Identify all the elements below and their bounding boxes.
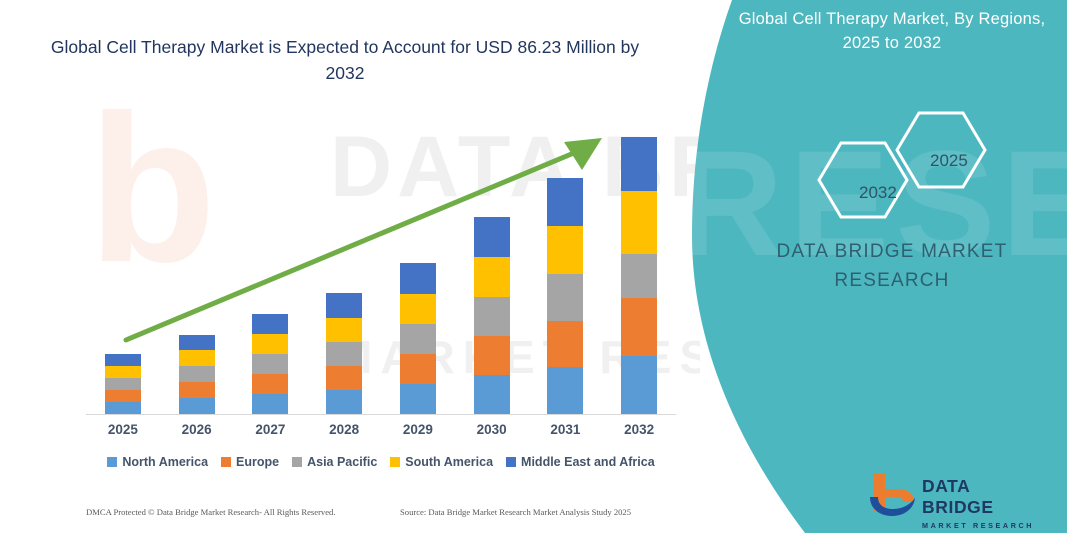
x-axis-labels: 20252026202720282029203020312032 [86, 422, 676, 437]
bar-segment [474, 297, 510, 336]
bar-segment [179, 350, 215, 366]
panel-brand-line-2: RESEARCH [727, 267, 1057, 296]
right-side-panel: RESEARCH Global Cell Therapy Market, By … [687, 0, 1067, 533]
bar-column [160, 120, 234, 414]
bar-segment [474, 217, 510, 257]
panel-brand-text: DATA BRIDGE MARKET RESEARCH [727, 238, 1057, 295]
legend-label: Asia Pacific [307, 455, 377, 469]
legend-swatch-icon [292, 457, 302, 467]
x-axis-tick-label: 2031 [529, 422, 603, 437]
bar-segment [179, 382, 215, 398]
bar-segment [474, 375, 510, 414]
stacked-bar [474, 217, 510, 414]
stacked-bar [547, 178, 583, 414]
legend-item[interactable]: Asia Pacific [292, 455, 377, 469]
hexagon-group: 2025 2032 [767, 105, 1047, 225]
stacked-bar [179, 335, 215, 414]
stacked-bar [105, 354, 141, 414]
bar-segment [252, 374, 288, 394]
bar-column [602, 120, 676, 414]
footer-copyright: DMCA Protected © Data Bridge Market Rese… [86, 507, 336, 517]
bar-segment [547, 321, 583, 367]
chart-title: Global Cell Therapy Market is Expected t… [40, 34, 650, 87]
footer: DMCA Protected © Data Bridge Market Rese… [0, 507, 700, 527]
legend-label: Middle East and Africa [521, 455, 655, 469]
legend-item[interactable]: North America [107, 455, 208, 469]
bar-segment [252, 314, 288, 334]
panel-title: Global Cell Therapy Market, By Regions, … [727, 8, 1057, 56]
bar-segment [105, 390, 141, 402]
x-axis-tick-label: 2027 [234, 422, 308, 437]
legend-swatch-icon [390, 457, 400, 467]
databridge-mark-icon [866, 472, 920, 518]
company-logo: DATA BRIDGE MARKET RESEARCH [866, 472, 1046, 520]
chart-legend: North AmericaEuropeAsia PacificSouth Ame… [86, 455, 676, 469]
bar-column [307, 120, 381, 414]
bar-segment [621, 137, 657, 191]
chart-plot-area [86, 120, 676, 415]
logo-name: DATA BRIDGE [922, 476, 1046, 518]
logo-text-block: DATA BRIDGE MARKET RESEARCH [922, 476, 1046, 530]
stacked-bar [621, 137, 657, 414]
bar-segment [547, 367, 583, 414]
hexagon-label-2025: 2025 [930, 151, 968, 171]
legend-label: Europe [236, 455, 279, 469]
bar-segment [400, 324, 436, 354]
bar-segment [179, 398, 215, 414]
bar-segment [474, 336, 510, 375]
hexagon-label-2032: 2032 [859, 183, 897, 203]
bar-segment [179, 335, 215, 350]
legend-swatch-icon [221, 457, 231, 467]
bar-segment [105, 402, 141, 414]
legend-swatch-icon [506, 457, 516, 467]
bar-segment [105, 378, 141, 390]
bar-segment [326, 293, 362, 318]
legend-label: South America [405, 455, 493, 469]
infographic-root: b DATA BRIDGE MARKET RESEARCH Global Cel… [0, 0, 1067, 533]
bar-column [529, 120, 603, 414]
legend-label: North America [122, 455, 208, 469]
bar-column [86, 120, 160, 414]
legend-swatch-icon [107, 457, 117, 467]
bar-segment [105, 354, 141, 366]
stacked-bar [400, 263, 436, 414]
bar-group [86, 120, 676, 414]
bar-segment [400, 384, 436, 414]
x-axis-tick-label: 2029 [381, 422, 455, 437]
bar-segment [326, 390, 362, 414]
bar-segment [621, 254, 657, 298]
x-axis-tick-label: 2028 [307, 422, 381, 437]
bar-segment [326, 342, 362, 366]
bar-segment [252, 334, 288, 354]
hexagon-shapes-icon [767, 105, 1047, 225]
bar-segment [547, 178, 583, 226]
bar-segment [326, 318, 362, 342]
bar-segment [400, 354, 436, 384]
bar-segment [474, 257, 510, 297]
bar-segment [400, 294, 436, 324]
x-axis-line [86, 414, 676, 415]
bar-segment [252, 354, 288, 374]
panel-brand-line-1: DATA BRIDGE MARKET [727, 238, 1057, 267]
bar-segment [621, 356, 657, 414]
bar-column [455, 120, 529, 414]
bar-segment [621, 298, 657, 356]
x-axis-tick-label: 2030 [455, 422, 529, 437]
legend-item[interactable]: Europe [221, 455, 279, 469]
x-axis-tick-label: 2025 [86, 422, 160, 437]
bar-segment [547, 226, 583, 274]
bar-segment [105, 366, 141, 378]
bar-segment [547, 274, 583, 321]
legend-item[interactable]: Middle East and Africa [506, 455, 655, 469]
footer-source: Source: Data Bridge Market Research Mark… [400, 507, 631, 517]
stacked-bar [326, 293, 362, 414]
bar-segment [179, 366, 215, 382]
bar-segment [252, 394, 288, 414]
x-axis-tick-label: 2026 [160, 422, 234, 437]
bar-column [234, 120, 308, 414]
bar-column [381, 120, 455, 414]
stacked-bar [252, 314, 288, 414]
bar-segment [621, 191, 657, 254]
bar-segment [400, 263, 436, 294]
x-axis-tick-label: 2032 [602, 422, 676, 437]
logo-subtitle: MARKET RESEARCH [922, 521, 1046, 530]
legend-item[interactable]: South America [390, 455, 493, 469]
bar-segment [326, 366, 362, 390]
